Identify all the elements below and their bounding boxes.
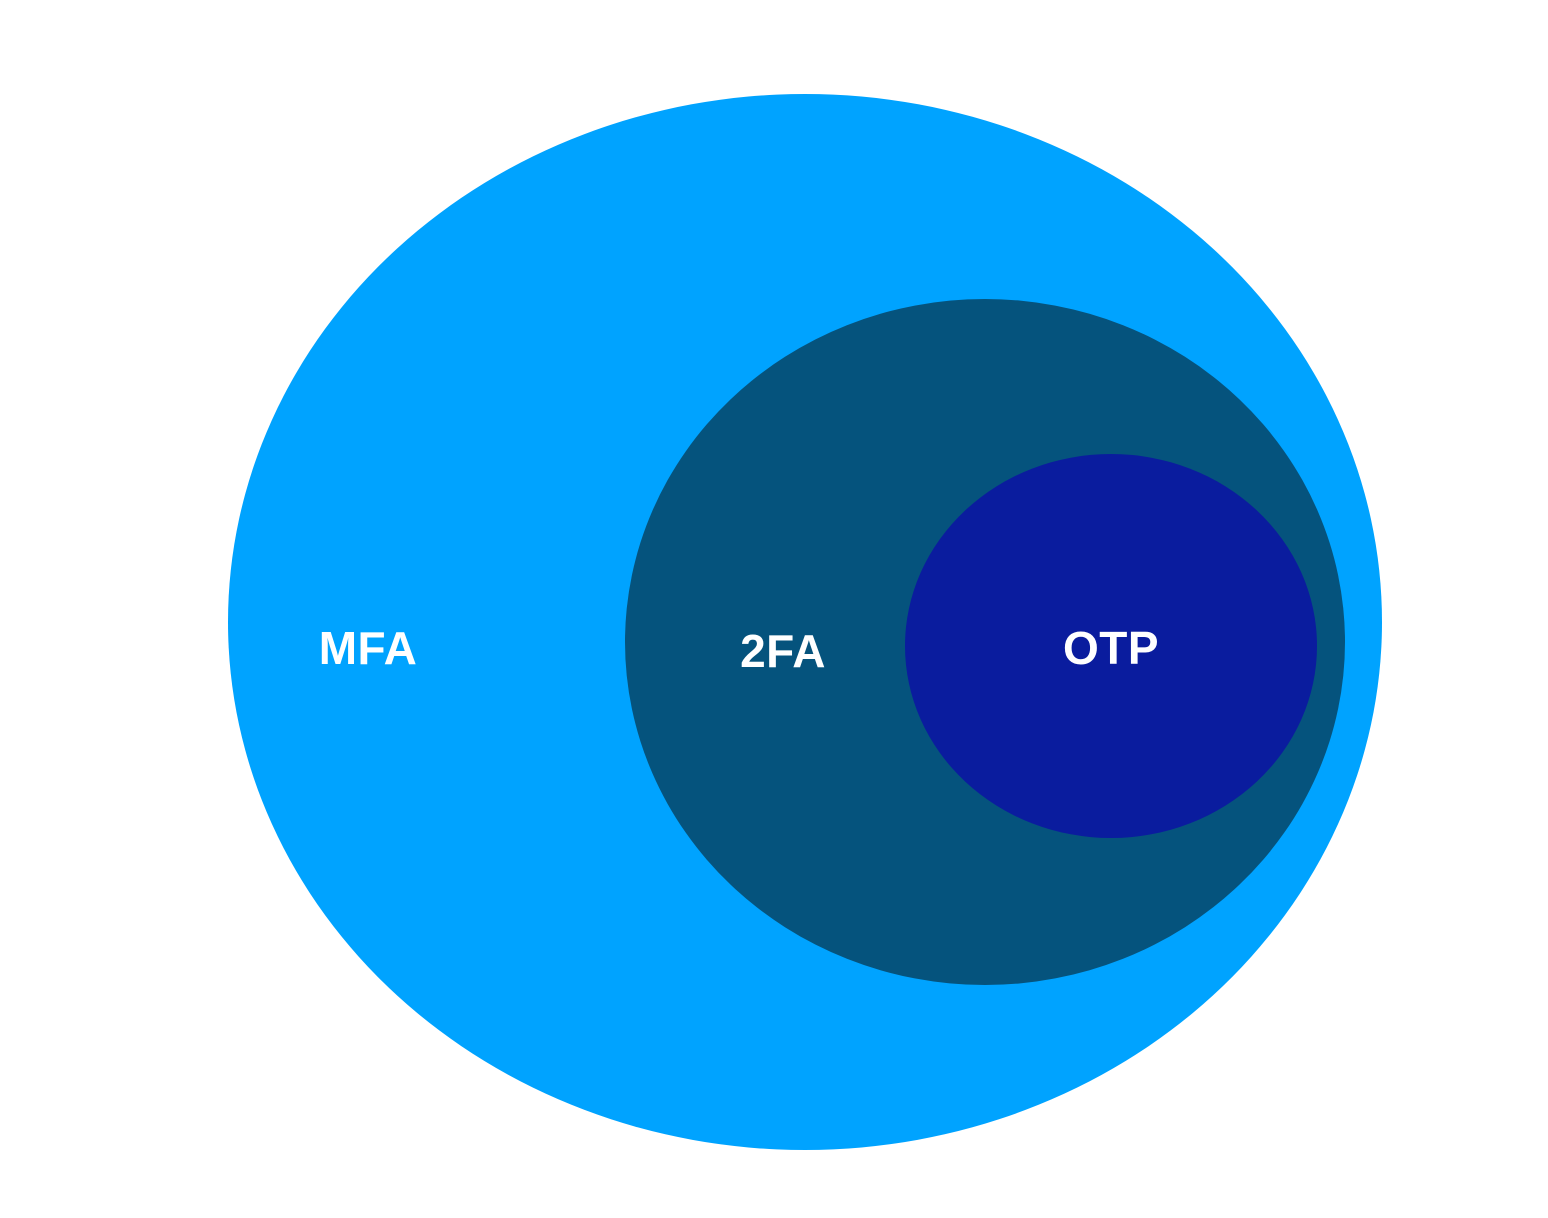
diagram-canvas: MFA 2FA OTP (0, 0, 1548, 1218)
set-label-otp: OTP (1063, 625, 1159, 671)
set-label-mfa: MFA (319, 625, 418, 671)
set-label-2fa: 2FA (740, 628, 826, 674)
venn-diagram-svg (0, 0, 1548, 1218)
